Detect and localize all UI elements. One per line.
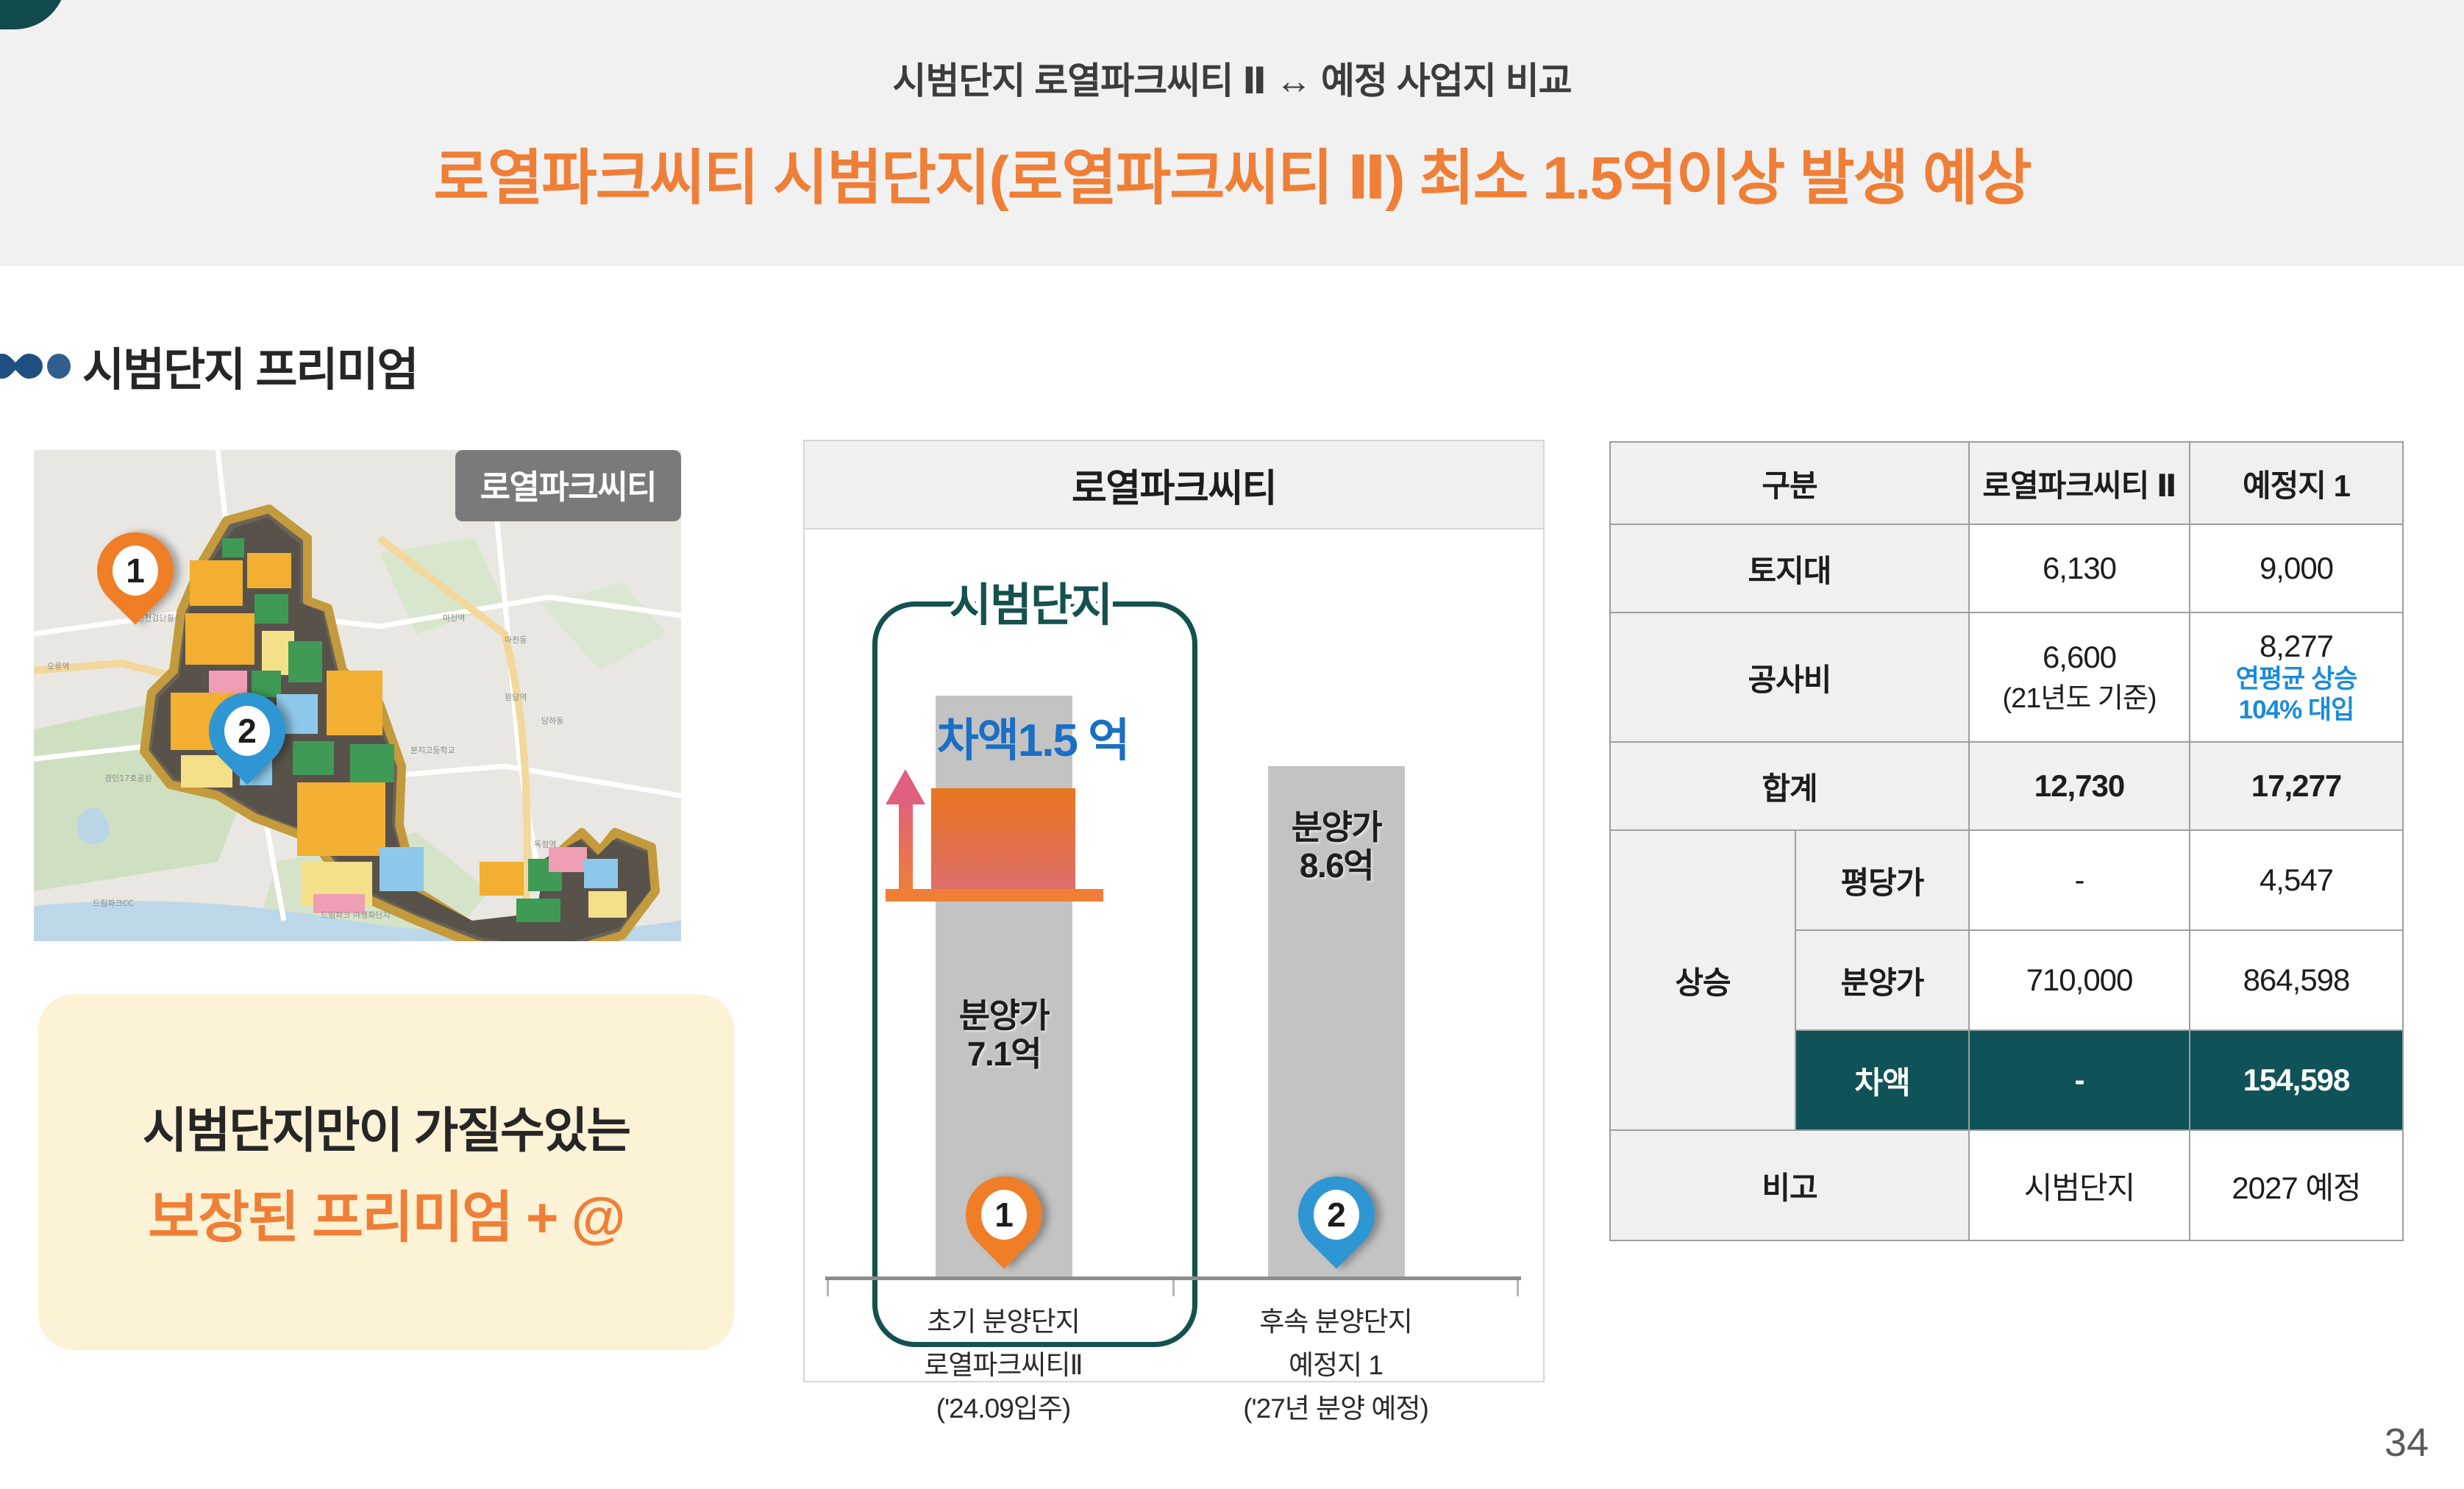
chart-title: 로열파크씨티 — [805, 441, 1543, 529]
x-label-followup: 후속 분양단지 예정지 1 ('27년 분양 예정) — [1211, 1300, 1461, 1431]
x-label-followup-line2: 예정지 1 — [1289, 1350, 1383, 1380]
site-map[interactable]: 오류역 인천검단힐스 마전역 마전동 당하동 원당역 독정역 경인17호공원 분… — [34, 450, 681, 941]
header-cell-site1: 예정지 1 — [2190, 442, 2403, 524]
difference-arrow-head-icon — [886, 769, 925, 804]
svg-text:분지고등학교: 분지고등학교 — [410, 746, 455, 755]
svg-text:독정역: 독정역 — [534, 840, 556, 849]
bar-label-initial-line2: 7.1억 — [967, 1035, 1041, 1073]
svg-text:드림파크CC: 드림파크CC — [93, 899, 134, 908]
dumbbell-icon — [0, 354, 43, 379]
construction-rpc2-note: (21년도 기준) — [1970, 675, 2189, 715]
header-cell-category: 구분 — [1610, 442, 1969, 524]
row-label-total: 합계 — [1610, 742, 1969, 830]
row-remarks-rpc2: 시범단지 — [1969, 1130, 2190, 1240]
header-cell-rpc2: 로열파크씨티 Ⅱ — [1969, 442, 2190, 524]
comparison-table: 구분 로열파크씨티 Ⅱ 예정지 1 토지대 6,130 9,000 공사비 6,… — [1609, 441, 2404, 1241]
row-label-price-per-pyeong: 평당가 — [1795, 830, 1969, 930]
map-pin-1-number: 1 — [113, 546, 158, 596]
x-label-initial-line2: 로열파크씨티Ⅱ — [924, 1350, 1082, 1380]
callout-line-1: 시범단지만이 가질수있는 — [143, 1091, 630, 1162]
row-construction-rpc2: 6,600 (21년도 기준) — [1969, 613, 2190, 742]
slide-subtitle: 시범단지 로열파크씨티 Ⅱ ↔ 예정 사업지 비교 — [0, 51, 2464, 104]
row-ppp-rpc2: - — [1969, 830, 2190, 930]
x-label-initial: 초기 분양단지 로열파크씨티Ⅱ ('24.09입주) — [878, 1300, 1128, 1431]
construction-site1-main: 8,277 — [2260, 629, 2333, 663]
section-title: 시범단지 프리미엄 — [82, 332, 418, 399]
x-label-followup-line3: ('27년 분양 예정) — [1243, 1393, 1428, 1424]
pilot-stamp-label: 시범단지 — [887, 568, 1174, 634]
x-label-initial-line1: 초기 분양단지 — [927, 1307, 1080, 1337]
premium-callout: 시범단지만이 가질수있는 보장된 프리미엄 + @ — [38, 994, 734, 1350]
svg-text:경인17호공원: 경인17호공원 — [104, 774, 152, 783]
svg-text:마전역: 마전역 — [443, 613, 465, 623]
row-sale-site1: 864,598 — [2190, 930, 2403, 1030]
construction-rpc2-main: 6,600 — [2043, 640, 2116, 674]
row-difference-rpc2: - — [1969, 1030, 2190, 1130]
row-construction-site1: 8,277 연평균 상승 104% 대입 — [2190, 613, 2403, 742]
chart-pin-1-number: 1 — [981, 1190, 1027, 1240]
price-comparison-chart: 로열파크씨티 시범단지 차액1.5 억 분양가 7.1억 분양가 8.6억 1 — [803, 440, 1545, 1382]
difference-label: 차액1.5 억 — [878, 703, 1187, 769]
row-label-difference: 차액 — [1795, 1030, 1969, 1130]
row-difference-site1: 154,598 — [2190, 1030, 2403, 1130]
axis-tick-right — [1517, 1280, 1519, 1296]
callout-line-2: 보장된 프리미엄 + @ — [148, 1172, 624, 1253]
svg-text:당하동: 당하동 — [541, 715, 563, 726]
difference-arrow-shaft — [899, 799, 913, 893]
slide-title: 로열파크씨티 시범단지(로열파크씨티 Ⅱ) 최소 1.5억이상 발생 예상 — [0, 129, 2464, 216]
row-ppp-site1: 4,547 — [2190, 830, 2403, 930]
page-number: 34 — [2385, 1420, 2429, 1465]
construction-site1-note2: 104% 대입 — [2190, 695, 2402, 726]
bar-label-followup: 분양가 8.6억 — [1255, 809, 1418, 885]
row-label-construction: 공사비 — [1610, 613, 1969, 742]
row-land-rpc2: 6,130 — [1969, 524, 2190, 613]
dumbbell-bullet-icon — [1, 343, 82, 388]
svg-text:오류역: 오류역 — [47, 662, 69, 671]
table-row-land: 토지대 6,130 9,000 — [1610, 524, 2403, 613]
construction-site1-note1: 연평균 상승 — [2190, 664, 2402, 695]
section-heading: 시범단지 프리미엄 — [0, 332, 662, 399]
corner-decoration — [0, 0, 66, 29]
svg-text:드림파크 야생화단지: 드림파크 야생화단지 — [321, 910, 391, 920]
axis-tick-left — [827, 1280, 829, 1296]
difference-baseline — [886, 889, 1103, 901]
row-total-rpc2: 12,730 — [1969, 742, 2190, 830]
bar-label-followup-line2: 8.6억 — [1300, 846, 1373, 885]
row-group-label-rise: 상승 — [1610, 830, 1795, 1130]
map-label-chip: 로열파크씨티 — [455, 450, 681, 521]
chart-pin-2-number: 2 — [1314, 1190, 1359, 1240]
row-land-site1: 9,000 — [2190, 524, 2403, 613]
axis-tick-mid — [1172, 1280, 1175, 1296]
chart-plot-area: 시범단지 차액1.5 억 분양가 7.1억 분양가 8.6억 1 2 — [805, 529, 1543, 1381]
bar-label-initial: 분양가 7.1억 — [922, 997, 1086, 1073]
map-pin-2-number: 2 — [224, 706, 270, 756]
bar-label-initial-line1: 분양가 — [959, 996, 1049, 1035]
row-label-land: 토지대 — [1610, 524, 1969, 613]
table-row-total: 합계 12,730 17,277 — [1610, 742, 2403, 830]
row-label-sale-price: 분양가 — [1795, 930, 1969, 1030]
svg-text:마전동: 마전동 — [505, 635, 527, 645]
svg-text:원당역: 원당역 — [505, 693, 527, 702]
table-header-row: 구분 로열파크씨티 Ⅱ 예정지 1 — [1610, 442, 2403, 524]
row-remarks-site1: 2027 예정 — [2190, 1130, 2403, 1240]
row-label-remarks: 비고 — [1610, 1130, 1969, 1240]
table-row-construction: 공사비 6,600 (21년도 기준) 8,277 연평균 상승 104% 대입 — [1610, 613, 2403, 742]
table-row-price-per-pyeong: 상승 평당가 - 4,547 — [1610, 830, 2403, 930]
row-total-site1: 17,277 — [2190, 742, 2403, 830]
x-label-initial-line3: ('24.09입주) — [936, 1393, 1070, 1424]
bullet-dot-icon — [47, 354, 71, 379]
table-row-remarks: 비고 시범단지 2027 예정 — [1610, 1130, 2403, 1240]
map-graphic: 오류역 인천검단힐스 마전역 마전동 당하동 원당역 독정역 경인17호공원 분… — [34, 450, 681, 941]
row-sale-rpc2: 710,000 — [1969, 930, 2190, 1030]
difference-block — [931, 788, 1075, 893]
x-label-followup-line1: 후속 분양단지 — [1259, 1307, 1412, 1337]
bar-label-followup-line1: 분양가 — [1292, 808, 1381, 846]
